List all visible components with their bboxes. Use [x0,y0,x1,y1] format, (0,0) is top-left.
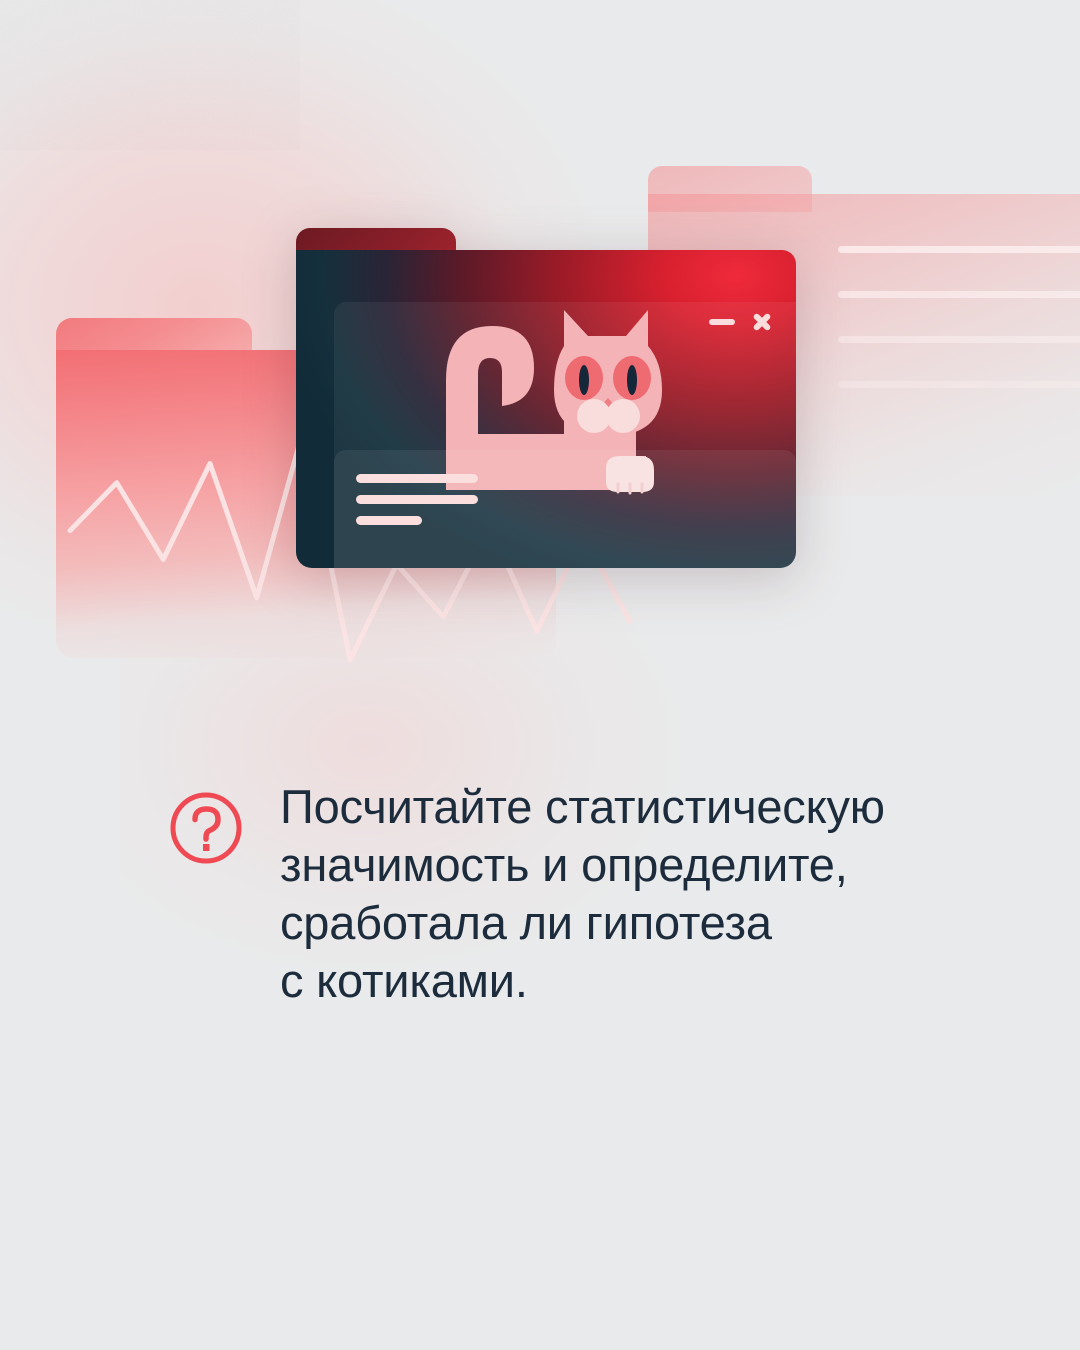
main-folder-content-card [334,450,796,568]
slide-canvas: Посчитайте статистическую значимость и о… [0,0,1080,1350]
content-line-3 [356,516,422,525]
main-folder-window[interactable] [296,228,796,568]
close-icon[interactable] [752,312,772,332]
caption-text: Посчитайте статистическую значимость и о… [280,778,885,1010]
folder-right-line-2 [838,291,1080,298]
question-circle-icon [168,790,244,866]
content-line-1 [356,474,478,483]
folder-right-line-1 [838,246,1080,253]
folder-right-line-3 [838,336,1080,343]
window-controls[interactable] [709,312,772,332]
content-line-2 [356,495,478,504]
caption-block: Посчитайте статистическую значимость и о… [168,778,1028,1010]
folder-right-line-4 [838,381,1080,388]
folder-right-lines [838,246,1080,426]
minimize-icon[interactable] [709,319,735,325]
main-folder-body [296,250,796,568]
